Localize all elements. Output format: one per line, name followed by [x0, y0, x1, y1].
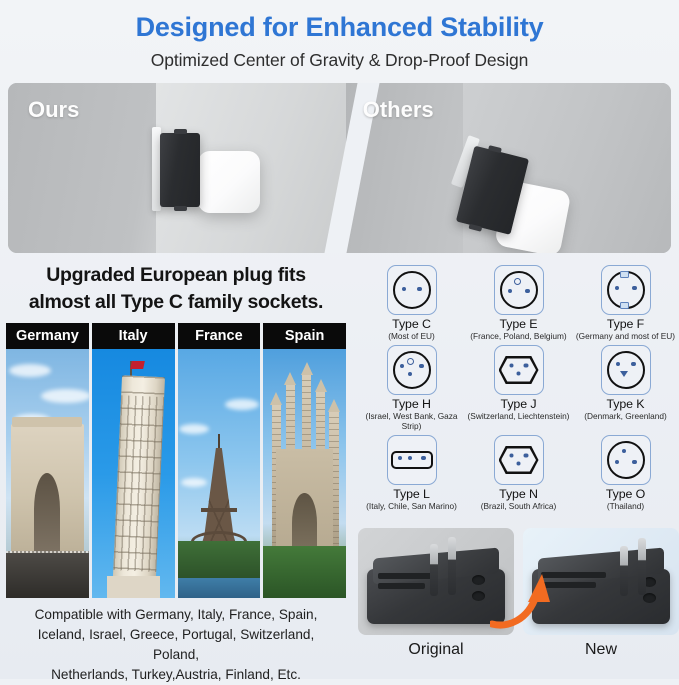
country-label: Spain	[263, 323, 346, 349]
socket-regions: (Israel, West Bank, Gaza Strip)	[358, 411, 465, 431]
header: Designed for Enhanced Stability Optimize…	[0, 0, 679, 71]
country-card-germany: Germany	[6, 323, 89, 598]
socket-cell-type-k: Type K (Denmark, Greenland)	[572, 345, 679, 431]
upgrade-comparison: Original New	[358, 528, 679, 678]
socket-type-j-icon	[494, 345, 544, 395]
country-photo-strip: Germany Italy	[6, 323, 346, 598]
black-adapter-body	[160, 133, 200, 207]
socket-type-e-icon	[494, 265, 544, 315]
socket-name: Type H	[392, 397, 431, 411]
infographic-page: Designed for Enhanced Stability Optimize…	[0, 0, 679, 679]
socket-name: Type K	[607, 397, 645, 411]
new-label: New	[523, 641, 679, 659]
socket-type-l-icon	[387, 435, 437, 485]
socket-cell-type-j: Type J (Switzerland, Liechtenstein)	[465, 345, 572, 431]
socket-name: Type N	[499, 487, 538, 501]
page-subtitle: Optimized Center of Gravity & Drop-Proof…	[0, 49, 679, 71]
country-label: Germany	[6, 323, 89, 349]
socket-name: Type J	[501, 397, 537, 411]
country-label: France	[178, 323, 261, 349]
socket-type-h-icon	[387, 345, 437, 395]
socket-type-k-icon	[601, 345, 651, 395]
spain-landmark-photo	[263, 349, 346, 598]
socket-name: Type L	[393, 487, 430, 501]
country-card-italy: Italy	[92, 323, 175, 598]
france-landmark-photo	[178, 349, 261, 598]
compatibility-line-1: Compatible with Germany, Italy, France, …	[0, 605, 352, 625]
european-plug-section: Upgraded European plug fits almost all T…	[0, 262, 352, 685]
adapter-pin-right	[448, 537, 456, 595]
socket-cell-type-l: Type L (Italy, Chile, San Marino)	[358, 435, 465, 511]
socket-cell-type-h: Type H (Israel, West Bank, Gaza Strip)	[358, 345, 465, 431]
socket-regions: (Italy, Chile, San Marino)	[366, 501, 457, 511]
plug-lead-line-1: Upgraded European plug fits	[0, 262, 352, 289]
socket-cell-type-c: Type C (Most of EU)	[358, 265, 465, 341]
socket-regions: (Switzerland, Liechtenstein)	[468, 411, 570, 421]
ours-label: Ours	[28, 97, 79, 123]
socket-types-grid: Type C (Most of EU) Type E (France, Pola…	[358, 265, 679, 511]
country-card-france: France	[178, 323, 261, 598]
socket-cell-type-f: Type F (Germany and most of EU)	[572, 265, 679, 341]
socket-type-c-icon	[387, 265, 437, 315]
socket-regions: (Germany and most of EU)	[576, 331, 675, 341]
socket-regions: (Brazil, South Africa)	[481, 501, 557, 511]
others-label: Others	[363, 97, 434, 123]
socket-regions: (Denmark, Greenland)	[584, 411, 667, 421]
socket-cell-type-n: Type N (Brazil, South Africa)	[465, 435, 572, 511]
socket-cell-type-o: Type O (Thailand)	[572, 435, 679, 511]
germany-landmark-photo	[6, 349, 89, 598]
socket-regions: (Most of EU)	[388, 331, 435, 341]
socket-name: Type C	[392, 317, 431, 331]
socket-cell-type-e: Type E (France, Poland, Belgium)	[465, 265, 572, 341]
socket-name: Type E	[500, 317, 538, 331]
socket-name: Type F	[607, 317, 644, 331]
page-title: Designed for Enhanced Stability	[0, 10, 679, 44]
adapter-pin-right	[638, 538, 646, 595]
country-label: Italy	[92, 323, 175, 349]
socket-type-f-icon	[601, 265, 651, 315]
white-charger-body	[198, 151, 260, 213]
country-card-spain: Spain	[263, 323, 346, 598]
socket-regions: (France, Poland, Belgium)	[470, 331, 566, 341]
italy-landmark-photo	[92, 349, 175, 598]
socket-type-o-icon	[601, 435, 651, 485]
plug-lead-line-2: almost all Type C family sockets.	[0, 289, 352, 316]
upgrade-arrow-icon	[490, 572, 560, 632]
main-content: Upgraded European plug fits almost all T…	[0, 262, 679, 512]
socket-type-n-icon	[494, 435, 544, 485]
compatibility-line-3: Netherlands, Turkey,Austria, Finland, Et…	[0, 665, 352, 685]
comparison-banner: Ours Others	[8, 83, 671, 253]
compatibility-line-2: Iceland, Israel, Greece, Portugal, Switz…	[0, 625, 352, 665]
socket-regions: (Thailand)	[607, 501, 644, 511]
original-label: Original	[358, 641, 514, 659]
socket-name: Type O	[606, 487, 645, 501]
adapter-pin-left	[620, 546, 628, 596]
adapter-pin-left	[430, 544, 438, 596]
